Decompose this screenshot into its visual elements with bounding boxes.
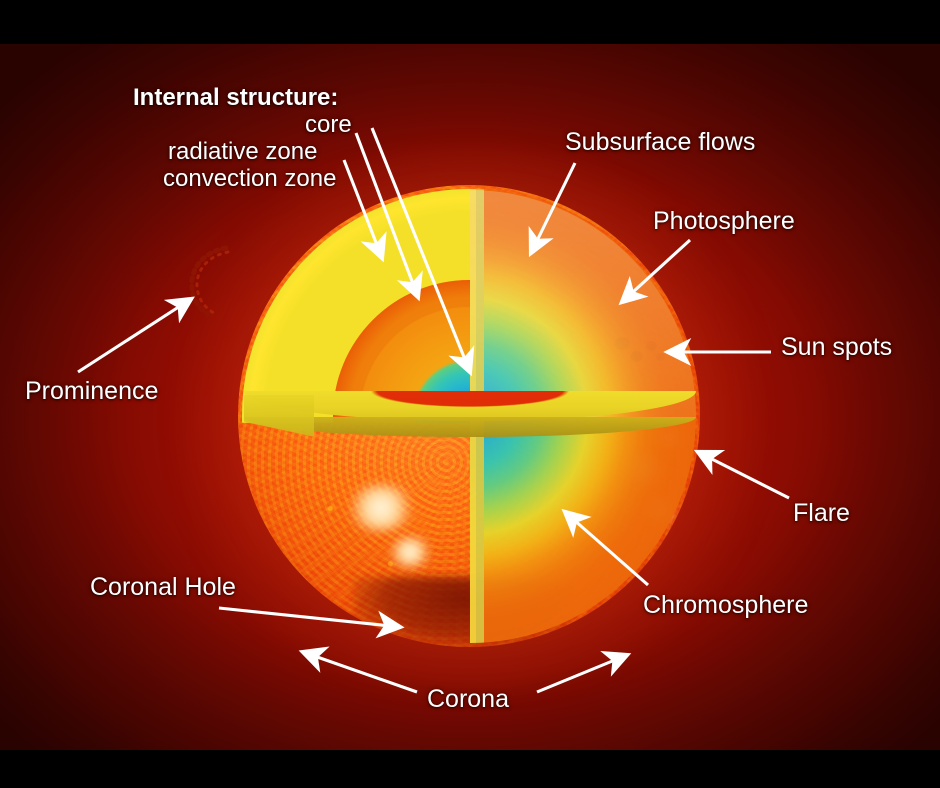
label-internal-structure: Internal structure: xyxy=(133,85,338,110)
sun xyxy=(238,185,700,647)
label-radiative-zone: radiative zone xyxy=(168,139,317,164)
label-corona: Corona xyxy=(427,686,509,712)
label-flare: Flare xyxy=(793,500,850,526)
label-photosphere: Photosphere xyxy=(653,208,795,234)
label-convection-zone: convection zone xyxy=(163,166,336,191)
sun-diagram-figure: Internal structure: core radiative zone … xyxy=(0,0,940,788)
label-chromosphere: Chromosphere xyxy=(643,592,808,618)
prominence-arc xyxy=(178,242,238,320)
label-sun-spots: Sun spots xyxy=(781,334,892,360)
letterbox-top xyxy=(0,0,940,44)
letterbox-bottom xyxy=(0,750,940,788)
internal-structure-cutaway xyxy=(238,185,700,647)
label-coronal-hole: Coronal Hole xyxy=(90,574,236,600)
wedge-side-wall xyxy=(244,395,314,453)
label-prominence: Prominence xyxy=(25,378,158,404)
label-subsurface-flows: Subsurface flows xyxy=(565,129,755,155)
label-core: core xyxy=(305,112,352,137)
